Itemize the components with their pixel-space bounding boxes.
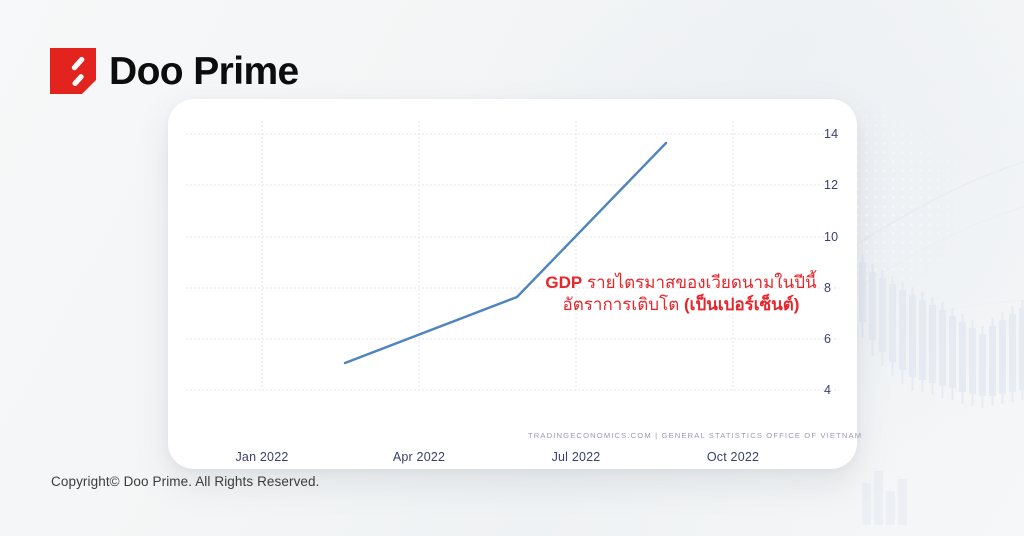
chart-annotation: GDP รายไตรมาสของเวียดนามในปีนี้ อัตราการ… <box>541 272 821 317</box>
annotation-gdp-label: GDP <box>545 273 582 292</box>
x-tick-label: Jul 2022 <box>552 451 601 464</box>
y-tick-label: 14 <box>824 128 838 141</box>
chart-card: 14 12 10 8 6 4 Jan 2022 Apr 2022 Jul 202… <box>168 99 857 469</box>
x-tick-label: Oct 2022 <box>707 451 759 464</box>
y-tick-label: 4 <box>824 384 831 397</box>
y-tick-label: 10 <box>824 231 838 244</box>
doo-prime-logo-mark-icon <box>50 48 96 94</box>
annotation-line-2-a: อัตราการเติบโต <box>563 295 684 314</box>
y-tick-label: 8 <box>824 282 831 295</box>
y-tick-label: 12 <box>824 179 838 192</box>
chart-attribution: TRADINGECONOMICS.COM | GENERAL STATISTIC… <box>528 431 862 440</box>
copyright-text: Copyright© Doo Prime. All Rights Reserve… <box>51 474 320 489</box>
x-axis-labels: Jan 2022 Apr 2022 Jul 2022 Oct 2022 <box>186 451 839 471</box>
annotation-line-2: อัตราการเติบโต (เป็นเปอร์เซ็นต์) <box>541 294 821 316</box>
chart-plot-area: 14 12 10 8 6 4 Jan 2022 Apr 2022 Jul 202… <box>186 121 839 445</box>
x-tick-label: Jan 2022 <box>235 451 288 464</box>
brand-logo: Doo Prime <box>50 48 299 94</box>
background-candlestick-decoration <box>855 250 1024 440</box>
annotation-line-1: GDP รายไตรมาสของเวียดนามในปีนี้ <box>541 272 821 294</box>
x-tick-label: Apr 2022 <box>393 451 445 464</box>
brand-name: Doo Prime <box>109 52 299 91</box>
y-axis-labels: 14 12 10 8 6 4 <box>824 121 864 445</box>
annotation-line-1-rest: รายไตรมาสของเวียดนามในปีนี้ <box>582 273 816 292</box>
background-bar-decoration <box>860 455 950 525</box>
annotation-line-2-b: (เป็นเปอร์เซ็นต์) <box>684 295 800 314</box>
y-tick-label: 6 <box>824 333 831 346</box>
slide-canvas: Doo Prime <box>0 0 1024 536</box>
